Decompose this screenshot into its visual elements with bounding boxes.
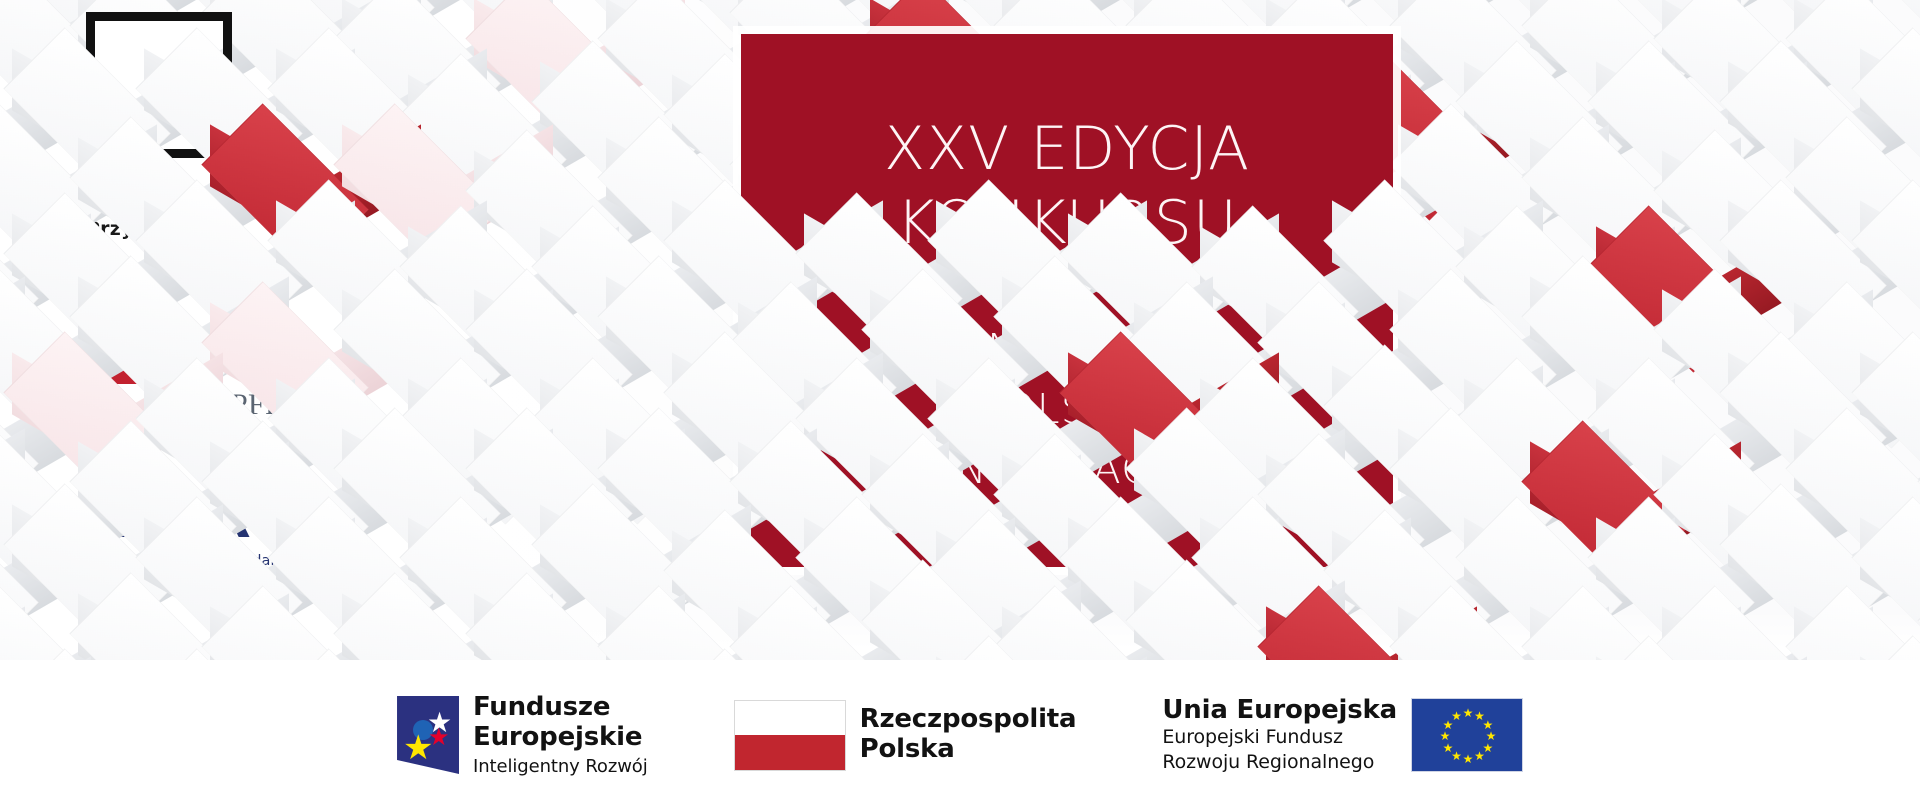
fe-line-3: Inteligentny Rozwój <box>473 756 648 777</box>
cube-tile <box>342 581 492 660</box>
logo-rzeczpospolita-polska: Rzeczpospolita Polska <box>734 700 1077 771</box>
cube-tile <box>1596 644 1746 660</box>
poster-page: Polski Produkt Przyszłości PARP Grupa PF… <box>0 0 1920 810</box>
flag-red-stripe <box>735 735 845 770</box>
fundusze-europejskie-wordmark: Fundusze Europejskie Inteligentny Rozwój <box>473 693 648 777</box>
cube-tile <box>1860 644 1920 660</box>
fundusze-europejskie-icon: ★ ★ ★ <box>397 696 459 774</box>
ue-line-1: Unia Europejska <box>1162 695 1397 725</box>
unia-europejska-wordmark: Unia Europejska Europejski Fundusz Rozwo… <box>1162 695 1397 775</box>
cube-tile <box>210 594 360 660</box>
rp-line-1: Rzeczpospolita <box>860 705 1077 735</box>
eu-star-icon: ★ <box>1463 753 1474 765</box>
eu-star-icon: ★ <box>1451 710 1462 722</box>
eu-star-icon: ★ <box>1474 750 1485 762</box>
cube-tile <box>936 644 1086 660</box>
logo-unia-europejska: Unia Europejska Europejski Fundusz Rozwo… <box>1162 695 1523 775</box>
fe-line-1: Fundusze <box>473 693 648 723</box>
polish-flag-icon <box>734 700 846 771</box>
cube-tile <box>672 657 822 660</box>
ue-line-3: Rozwoju Regionalnego <box>1162 750 1397 775</box>
eu-funding-footer: ★ ★ ★ Fundusze Europejskie Inteligentny … <box>0 660 1920 810</box>
rp-line-2: Polska <box>860 735 1077 765</box>
cube-tile <box>276 657 426 660</box>
banner-hero: Polski Produkt Przyszłości PARP Grupa PF… <box>0 0 1920 660</box>
eu-star-icon: ★ <box>1443 742 1454 754</box>
ue-line-2: Europejski Fundusz <box>1162 725 1397 750</box>
fe-yellow-star-icon: ★ <box>403 731 433 765</box>
european-union-flag-icon: ★★★★★★★★★★★★ <box>1411 698 1523 772</box>
cube-tile <box>738 594 888 660</box>
eu-star-icon: ★ <box>1463 707 1474 719</box>
panel-title-line-1: XXV EDYCJA <box>884 114 1250 184</box>
flag-white-stripe <box>735 701 845 736</box>
cube-tile <box>144 657 294 660</box>
logo-fundusze-europejskie: ★ ★ ★ Fundusze Europejskie Inteligentny … <box>397 693 648 777</box>
cube-tile <box>12 657 162 660</box>
fe-line-2: Europejskie <box>473 723 648 753</box>
eu-star-icon: ★ <box>1440 730 1451 742</box>
rzeczpospolita-wordmark: Rzeczpospolita Polska <box>860 705 1077 764</box>
